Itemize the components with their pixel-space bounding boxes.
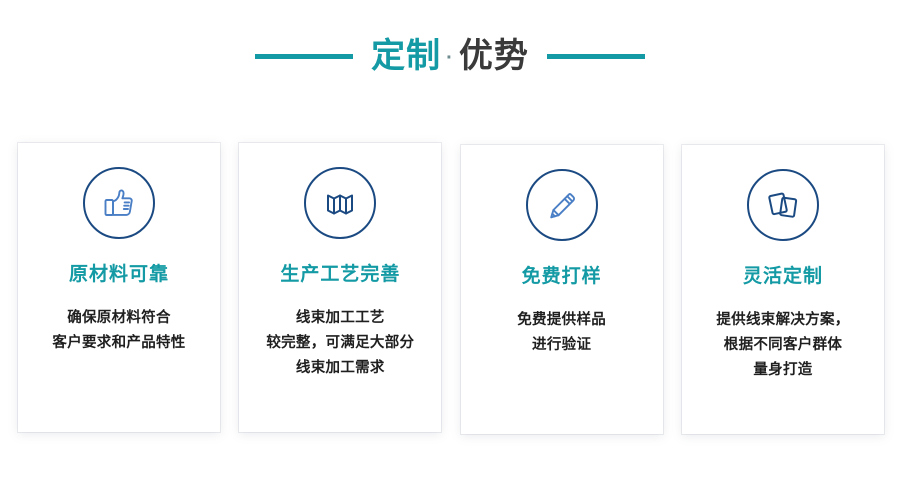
feature-card-body-line: 确保原材料符合 (52, 306, 185, 331)
advantages-section: 定制 · 优势 原材料可靠 确保原材料符合 客户要求和产品特性 (0, 0, 900, 499)
page-title-accent: 定制 (371, 39, 441, 73)
feature-card-body-line: 线束加工工艺 (266, 306, 414, 331)
page-title-main: 优势 (459, 39, 529, 73)
feature-card-body-line: 较完整，可满足大部分 (266, 331, 414, 356)
pencil-icon (526, 169, 598, 241)
feature-card-raw-material[interactable]: 原材料可靠 确保原材料符合 客户要求和产品特性 (18, 143, 220, 432)
feature-card-free-sample[interactable]: 免费打样 免费提供样品 进行验证 (461, 145, 663, 434)
feature-card-title: 生产工艺完善 (280, 264, 400, 287)
heading-rule-right (547, 54, 645, 59)
feature-card-body-line: 根据不同客户群体 (716, 333, 849, 358)
heading-rule-left (255, 54, 353, 59)
folded-map-icon (304, 167, 376, 239)
feature-card-body-line: 客户要求和产品特性 (52, 331, 185, 356)
feature-card-body-line: 进行验证 (517, 333, 606, 358)
feature-card-body: 线束加工工艺 较完整，可满足大部分 线束加工需求 (266, 306, 414, 381)
feature-card-body-line: 线束加工需求 (266, 356, 414, 381)
feature-card-flexible-customization[interactable]: 灵活定制 提供线束解决方案， 根据不同客户群体 量身打造 (682, 145, 884, 434)
page-title-separator: · (441, 48, 459, 68)
feature-card-production-process[interactable]: 生产工艺完善 线束加工工艺 较完整，可满足大部分 线束加工需求 (239, 143, 441, 432)
feature-card-body: 免费提供样品 进行验证 (517, 308, 606, 358)
feature-card-title: 免费打样 (522, 266, 602, 289)
feature-card-body-line: 免费提供样品 (517, 308, 606, 333)
feature-card-body-line: 提供线束解决方案， (716, 308, 849, 333)
feature-card-list: 原材料可靠 确保原材料符合 客户要求和产品特性 生产工艺完善 线束加工工艺 较完… (18, 143, 884, 434)
feature-card-body-line: 量身打造 (716, 358, 849, 383)
feature-card-body: 提供线束解决方案， 根据不同客户群体 量身打造 (716, 308, 849, 383)
feature-card-title: 原材料可靠 (69, 264, 169, 287)
page-title: 定制 · 优势 (371, 39, 529, 73)
feature-card-body: 确保原材料符合 客户要求和产品特性 (52, 306, 185, 356)
thumbs-up-icon (83, 167, 155, 239)
stacked-cards-icon (747, 169, 819, 241)
section-heading: 定制 · 优势 (0, 26, 900, 86)
feature-card-title: 灵活定制 (743, 266, 823, 289)
